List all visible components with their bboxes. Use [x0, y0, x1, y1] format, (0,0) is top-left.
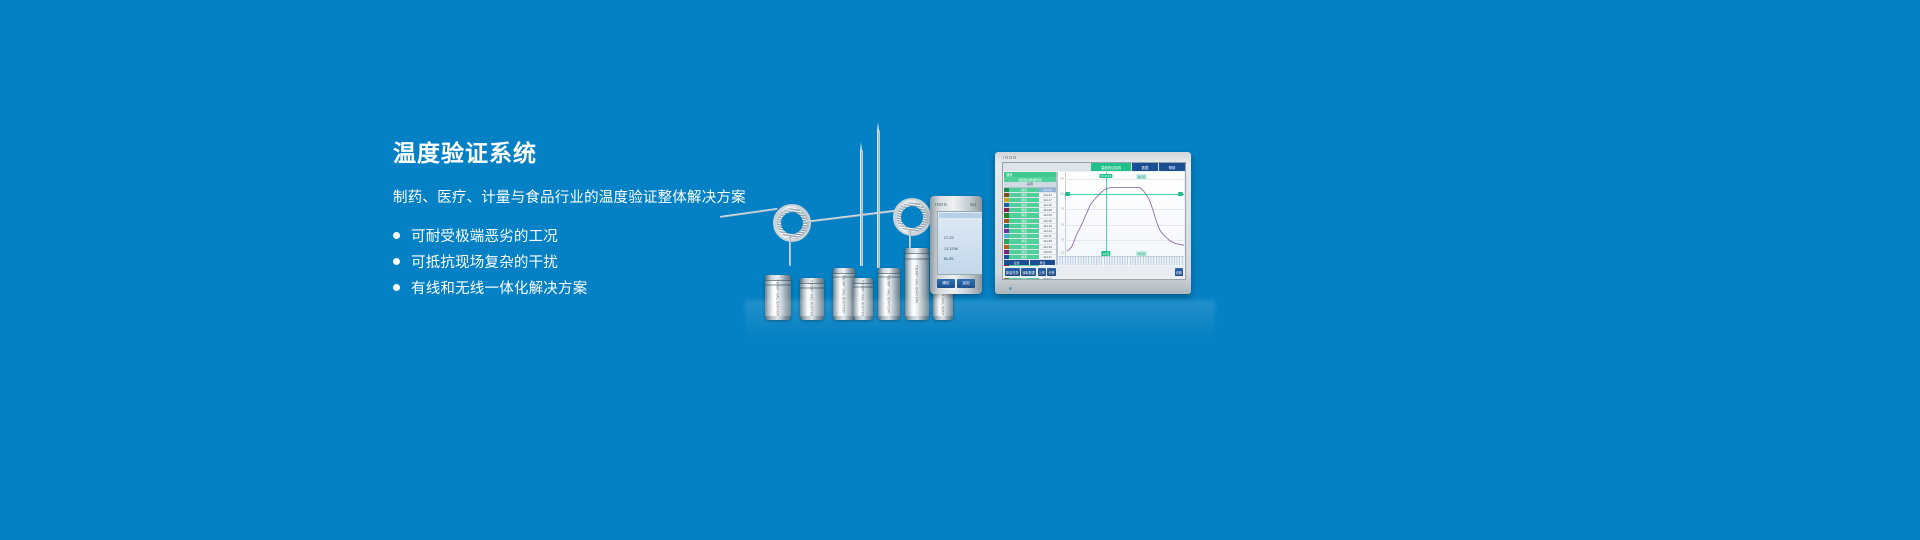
channel-name: 通道 — [1009, 203, 1039, 207]
probe-stem — [789, 236, 791, 266]
channel-value: 121.19 — [1039, 224, 1056, 228]
logger-label: TEMP VALIDATOR — [842, 275, 847, 313]
handheld-softkeys: 确定 返回 — [937, 279, 975, 288]
handheld-confirm-button[interactable]: 确定 — [937, 279, 955, 288]
bullet-dot-icon — [393, 284, 400, 291]
handheld-back-button[interactable]: 返回 — [957, 279, 975, 288]
tab-data[interactable]: 数据 — [1132, 163, 1158, 171]
feature-label: 可抵抗现场复杂的干扰 — [411, 251, 558, 272]
channel-name: 通道 — [1009, 234, 1039, 238]
channel-name: 通道 — [1009, 208, 1039, 212]
channel-value: 121.47 — [1039, 255, 1056, 259]
logger-label: TEMP VALIDATOR — [861, 280, 866, 318]
channel-value: 121.31 — [1039, 193, 1056, 197]
handheld-screen: REC 27.29 ℃ 13.1206 s BL/EL ? — [937, 211, 982, 275]
channel-name: 通道 — [1009, 219, 1039, 223]
settings-button[interactable]: 设置 — [1175, 268, 1183, 276]
channel-value: 121.22 — [1039, 219, 1056, 223]
channel-name: 通道 — [1009, 193, 1039, 197]
channel-name: 通道 — [1009, 224, 1039, 228]
data-logger: TEMP VALIDATOR — [905, 248, 929, 320]
reading-label: BL/EL — [944, 257, 954, 261]
channel-value: 121.08 — [1039, 208, 1056, 212]
handheld-reader[interactable]: INON M1 REC 27.29 ℃ 13.1206 s BL/EL ? 确定… — [930, 196, 982, 294]
logger-label: TEMP VALIDATOR — [887, 275, 892, 313]
monitor-display: INON 温度验证曲线 数据 帮助 通道 温度验证数据列表 名称 通道121.2… — [995, 152, 1191, 294]
data-logger: TEMP VALIDATOR — [800, 278, 824, 320]
handheld-brand: INON — [935, 202, 947, 207]
channel-name: 通道 — [1009, 213, 1039, 217]
software-screen: 温度验证曲线 数据 帮助 通道 温度验证数据列表 名称 通道121.25通道12… — [1002, 162, 1186, 280]
channel-name: 通道 — [1009, 239, 1039, 243]
monitor-brand: INON — [1003, 155, 1017, 160]
data-logger: TEMP VALIDATOR — [833, 268, 855, 320]
channel-value: 121.11 — [1039, 234, 1056, 238]
handheld-reading-row: 13.1206 s — [944, 247, 982, 251]
column-name: 名称 — [1027, 182, 1033, 186]
reading-label: 27.29 — [944, 236, 954, 241]
read-data-button[interactable]: 读取数据 — [1021, 268, 1036, 276]
bullet-dot-icon — [393, 232, 400, 239]
channel-panel: 通道 温度验证数据列表 名称 通道121.25通道121.31通道121.17通… — [1004, 172, 1057, 265]
channel-name: 通道 — [1009, 229, 1039, 233]
channel-name: 通道 — [1009, 255, 1039, 259]
power-led-icon — [1009, 287, 1012, 290]
channel-value: 121.33 — [1039, 245, 1056, 249]
handheld-reading-row: 27.29 ℃ — [944, 236, 982, 241]
app-topbar: 温度验证曲线 数据 帮助 — [1003, 163, 1185, 171]
app-bottom-toolbar: 新建任务 读取数据 上传 分析 设置 — [1004, 266, 1184, 278]
channel-name: 通道 — [1009, 188, 1039, 192]
logger-label: TEMP VALIDATOR — [776, 278, 781, 316]
coiled-probe-icon — [773, 204, 811, 242]
channel-value: 121.28 — [1039, 239, 1056, 243]
handheld-reading-row: BL/EL ? — [944, 257, 982, 261]
tab-curve[interactable]: 温度验证曲线 — [1091, 163, 1131, 171]
tab-help[interactable]: 帮助 — [1159, 163, 1185, 171]
handheld-status-bar: REC — [939, 213, 982, 218]
data-logger: TEMP VALIDATOR — [765, 275, 791, 320]
coiled-probe-icon — [893, 198, 931, 236]
needle-probe-icon — [860, 150, 863, 266]
feature-label: 有线和无线一体化解决方案 — [411, 277, 587, 298]
logger-label: TEMP VALIDATOR — [915, 265, 920, 303]
channel-name: 通道 — [1009, 245, 1039, 249]
channel-value: 121.36 — [1039, 213, 1056, 217]
temperature-chart: 140 120 90 60 40 20 15:46:02 — [1057, 172, 1184, 257]
channel-value: 121.05 — [1039, 250, 1056, 254]
export-button[interactable]: 导出 — [1030, 260, 1056, 265]
data-logger: TEMP VALIDATOR — [878, 268, 900, 320]
probe-wire — [805, 210, 897, 223]
hero-banner: 温度验证系统 制药、医疗、计量与食品行业的温度验证整体解决方案 可耐受极端恶劣的… — [0, 0, 1920, 540]
bullet-dot-icon — [393, 258, 400, 265]
channel-name: 通道 — [1009, 198, 1039, 202]
needle-probe-icon — [877, 130, 880, 268]
handheld-brand-row: INON M1 — [935, 202, 977, 207]
data-logger: TEMP VALIDATOR — [853, 278, 873, 320]
channel-panel-footer: 全选 导出 — [1004, 260, 1056, 265]
select-all-button[interactable]: 全选 — [1004, 260, 1030, 265]
analyze-button[interactable]: 分析 — [1047, 268, 1055, 276]
chart-x-axis — [1057, 256, 1184, 265]
channel-value: 121.44 — [1039, 229, 1056, 233]
feature-label: 可耐受极端恶劣的工况 — [411, 225, 558, 246]
logger-label: TEMP VALIDATOR — [810, 280, 815, 318]
reading-label: 13.1206 — [944, 247, 958, 251]
temperature-curve — [1058, 172, 1184, 257]
channel-value: 121.42 — [1039, 203, 1056, 207]
handheld-model: M1 — [970, 202, 977, 207]
upload-button[interactable]: 上传 — [1038, 268, 1046, 276]
channel-name: 通道 — [1009, 250, 1039, 254]
new-task-button[interactable]: 新建任务 — [1005, 268, 1020, 276]
channel-value: 121.17 — [1039, 198, 1056, 202]
channel-value: 121.25 — [1039, 188, 1056, 192]
